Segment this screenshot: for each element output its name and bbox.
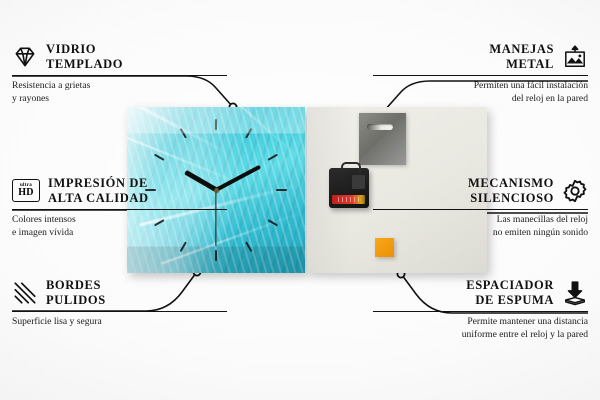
callout-manejas-metal: MANEJAS METAL Permiten una fácil instala…: [373, 42, 588, 105]
mechanism-chip: [352, 175, 365, 189]
ultra-hd-icon: ultra HD: [12, 179, 40, 202]
gear-icon: [562, 178, 588, 204]
diamond-icon: [12, 44, 38, 70]
callout-desc-line1: Las manecillas del reloj: [373, 214, 588, 226]
callout-rule: [12, 209, 227, 211]
callout-mecanismo-silencioso: MECANISMO SILENCIOSO Las manecillas del …: [373, 176, 588, 239]
picture-hanger-icon: [562, 44, 588, 70]
diagonal-lines-icon: [12, 280, 38, 306]
callout-rule: [12, 75, 227, 77]
callout-desc-line1: Superficie lisa y segura: [12, 316, 227, 328]
battery: [332, 195, 365, 204]
callout-desc-line2: del reloj en la pared: [373, 93, 588, 105]
callout-desc-line2: no emiten ningún sonido: [373, 227, 588, 239]
callout-title-line1: MECANISMO: [468, 176, 554, 191]
hanger-slot: [367, 124, 393, 130]
callout-title-line2: PULIDOS: [46, 293, 106, 308]
callout-rule: [373, 311, 588, 313]
infographic-canvas: VIDRIO TEMPLADO Resistencia a grietas y …: [0, 0, 600, 400]
callout-impresion-alta-calidad: ultra HD IMPRESIÓN DE ALTA CALIDAD Color…: [12, 176, 227, 239]
mechanism-hook: [341, 162, 361, 173]
callout-bordes-pulidos: BORDES PULIDOS Superficie lisa y segura: [12, 278, 227, 329]
callout-title-line1: VIDRIO: [46, 42, 123, 57]
callout-desc-line2: y rayones: [12, 93, 227, 105]
callout-desc-line1: Resistencia a grietas: [12, 80, 227, 92]
callout-title-line2: TEMPLADO: [46, 57, 123, 72]
foam-spacer-pad: [375, 238, 394, 257]
callout-espaciador-espuma: ESPACIADOR DE ESPUMA Permite mantener un…: [373, 278, 588, 341]
callout-title-line2: DE ESPUMA: [466, 293, 554, 308]
metal-hanger-plate: [359, 113, 406, 165]
callout-vidrio-templado: VIDRIO TEMPLADO Resistencia a grietas y …: [12, 42, 227, 105]
ultra-hd-large-label: HD: [18, 188, 34, 198]
callout-title-line2: METAL: [489, 57, 554, 72]
callout-title-line2: SILENCIOSO: [468, 191, 554, 206]
callout-title-line2: ALTA CALIDAD: [48, 191, 149, 206]
callout-rule: [373, 75, 588, 77]
callout-desc-line2: e imagen vívida: [12, 227, 227, 239]
callout-rule: [373, 209, 588, 211]
arrow-onto-pad-icon: [562, 280, 588, 306]
callout-rule: [12, 311, 227, 313]
callout-title-line1: BORDES: [46, 278, 106, 293]
callout-desc-line1: Colores intensos: [12, 214, 227, 226]
callout-desc-line2: uniforme entre el reloj y la pared: [373, 329, 588, 341]
clock-mechanism: [329, 168, 369, 208]
callout-title-line1: ESPACIADOR: [466, 278, 554, 293]
callout-title-line1: IMPRESIÓN DE: [48, 176, 149, 191]
callout-title-line1: MANEJAS: [489, 42, 554, 57]
callout-desc-line1: Permite mantener una distancia: [373, 316, 588, 328]
callout-desc-line1: Permiten una fácil instalación: [373, 80, 588, 92]
